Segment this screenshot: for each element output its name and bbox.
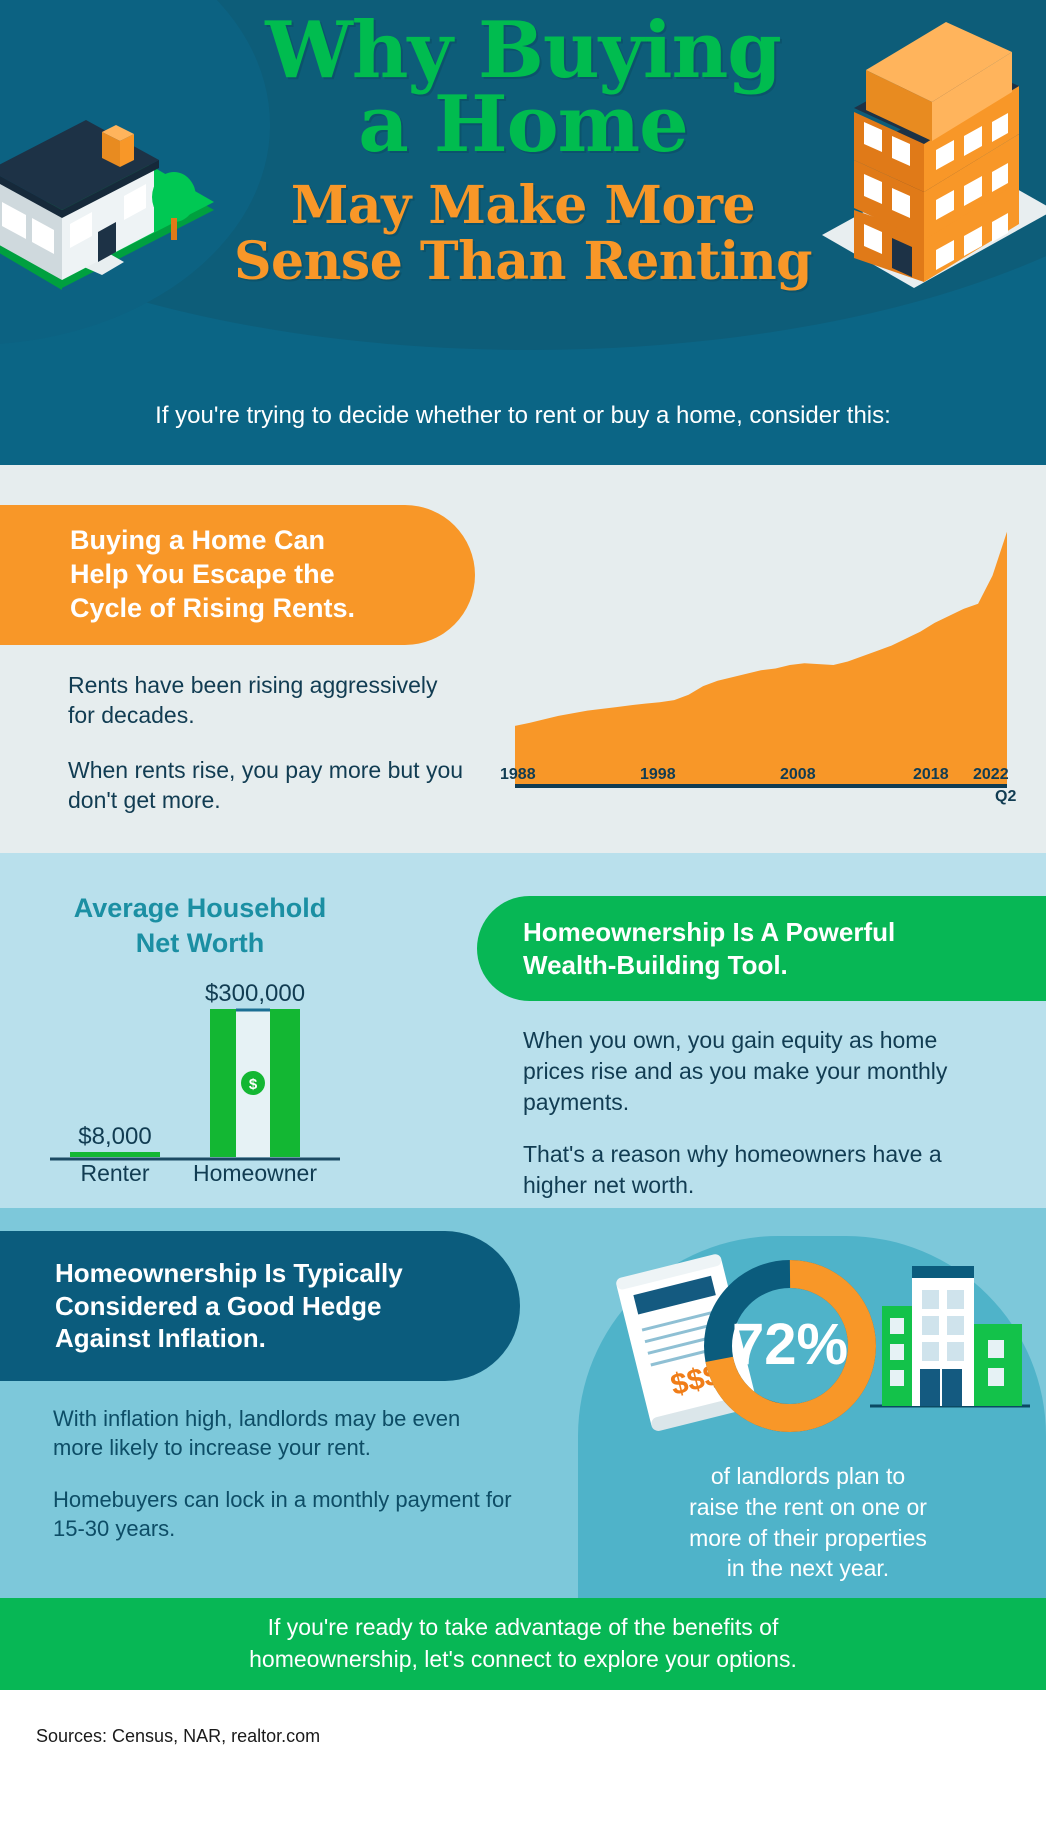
bar-category-homeowner: Homeowner <box>193 1160 317 1183</box>
wealth-building-headline-line-1: Homeownership Is A Powerful <box>523 916 895 949</box>
net-worth-bar-chart: $ $300,000 $8,000 Renter Homeowner <box>40 983 360 1183</box>
rising-rents-paragraph-2: When rents rise, you pay more but you do… <box>68 755 468 816</box>
inflation-paragraph-2: Homebuyers can lock in a monthly payment… <box>53 1485 513 1544</box>
bar-category-renter: Renter <box>80 1160 149 1183</box>
rising-rents-headline: Buying a Home Can Help You Escape the Cy… <box>70 524 355 625</box>
stat-caption-line-2: raise the rent on one or <box>578 1492 1038 1523</box>
x-tick-1988: 1988 <box>500 766 536 784</box>
call-to-action-text: If you're ready to take advantage of the… <box>249 1612 797 1675</box>
bar-value-renter: $8,000 <box>78 1123 151 1150</box>
x-tick-2018: 2018 <box>913 766 949 784</box>
rising-rents-section: Buying a Home Can Help You Escape the Cy… <box>0 465 1046 853</box>
x-tick-1998: 1998 <box>640 766 676 784</box>
call-to-action-banner: If you're ready to take advantage of the… <box>0 1598 1046 1690</box>
stat-caption-line-4: in the next year. <box>578 1553 1038 1584</box>
infographic-page: Why Buying a Home May Make More Sense Th… <box>0 0 1046 1845</box>
net-worth-paragraph-2: That's a reason why homeowners have a hi… <box>523 1139 953 1201</box>
wealth-building-headline: Homeownership Is A Powerful Wealth-Build… <box>523 916 895 981</box>
sources-text: Sources: Census, NAR, realtor.com <box>36 1726 320 1746</box>
header-section: Why Buying a Home May Make More Sense Th… <box>0 0 1046 465</box>
x-tick-2022: 2022 <box>973 766 1009 784</box>
rising-rents-headline-line-2: Help You Escape the <box>70 558 355 592</box>
bar-value-homeowner: $300,000 <box>205 983 305 1007</box>
net-worth-title-line-1: Average Household <box>25 891 375 926</box>
inflation-headline: Homeownership Is Typically Considered a … <box>55 1257 403 1355</box>
page-title: Why Buying a Home <box>0 14 1046 162</box>
net-worth-chart-title: Average Household Net Worth <box>25 891 375 960</box>
inflation-headline-line-3: Against Inflation. <box>55 1322 403 1355</box>
net-worth-section: Average Household Net Worth $ $300,000 $… <box>0 853 1046 1208</box>
header-tagline: If you're trying to decide whether to re… <box>0 402 1046 430</box>
rising-rents-headline-line-3: Cycle of Rising Rents. <box>70 592 355 626</box>
inflation-headline-line-2: Considered a Good Hedge <box>55 1290 403 1323</box>
inflation-paragraph-1: With inflation high, landlords may be ev… <box>53 1404 513 1463</box>
rising-rents-body: Rents have been rising aggressively for … <box>68 670 468 815</box>
rising-rents-paragraph-1: Rents have been rising aggressively for … <box>68 670 468 731</box>
net-worth-title-line-2: Net Worth <box>25 926 375 961</box>
inflation-headline-pill: Homeownership Is Typically Considered a … <box>0 1231 520 1381</box>
rising-rents-headline-line-1: Buying a Home Can <box>70 524 355 558</box>
svg-text:$: $ <box>249 1076 258 1093</box>
net-worth-paragraph-1: When you own, you gain equity as home pr… <box>523 1025 953 1117</box>
wealth-building-headline-line-2: Wealth-Building Tool. <box>523 949 895 982</box>
stat-caption-line-1: of landlords plan to <box>578 1461 1038 1492</box>
header-title-block: Why Buying a Home May Make More Sense Th… <box>0 14 1046 291</box>
sources-footer: Sources: Census, NAR, realtor.com <box>0 1690 1046 1845</box>
cta-line-1: If you're ready to take advantage of the… <box>249 1612 797 1644</box>
rent-chart-x-axis-labels: 1988 1998 2008 2018 2022 Q2 <box>495 748 1025 818</box>
inflation-hedge-section: Homeownership Is Typically Considered a … <box>0 1208 1046 1598</box>
page-subtitle-line-1: May Make More <box>291 175 755 236</box>
landlord-rent-increase-donut-chart: $$$ 72% <box>590 1236 1040 1466</box>
office-building-icon <box>882 1266 1022 1406</box>
wealth-building-headline-pill: Homeownership Is A Powerful Wealth-Build… <box>477 896 1046 1001</box>
x-tick-2008: 2008 <box>780 766 816 784</box>
cta-line-2: homeownership, let's connect to explore … <box>249 1644 797 1676</box>
rising-rents-headline-pill: Buying a Home Can Help You Escape the Cy… <box>0 505 475 645</box>
stat-caption-line-3: more of their properties <box>578 1523 1038 1554</box>
inflation-headline-line-1: Homeownership Is Typically <box>55 1257 403 1290</box>
donut-center-value: 72% <box>732 1312 848 1377</box>
inflation-body: With inflation high, landlords may be ev… <box>53 1404 513 1543</box>
page-subtitle: May Make More Sense Than Renting <box>0 178 1046 290</box>
landlord-stat-caption: of landlords plan to raise the rent on o… <box>578 1461 1038 1584</box>
bar-renter <box>70 1152 160 1157</box>
page-title-line-2: a Home <box>0 88 1046 162</box>
net-worth-body: When you own, you gain equity as home pr… <box>523 1025 953 1201</box>
x-tick-2022-q2: Q2 <box>995 788 1016 806</box>
page-subtitle-line-2: Sense Than Renting <box>0 234 1046 290</box>
